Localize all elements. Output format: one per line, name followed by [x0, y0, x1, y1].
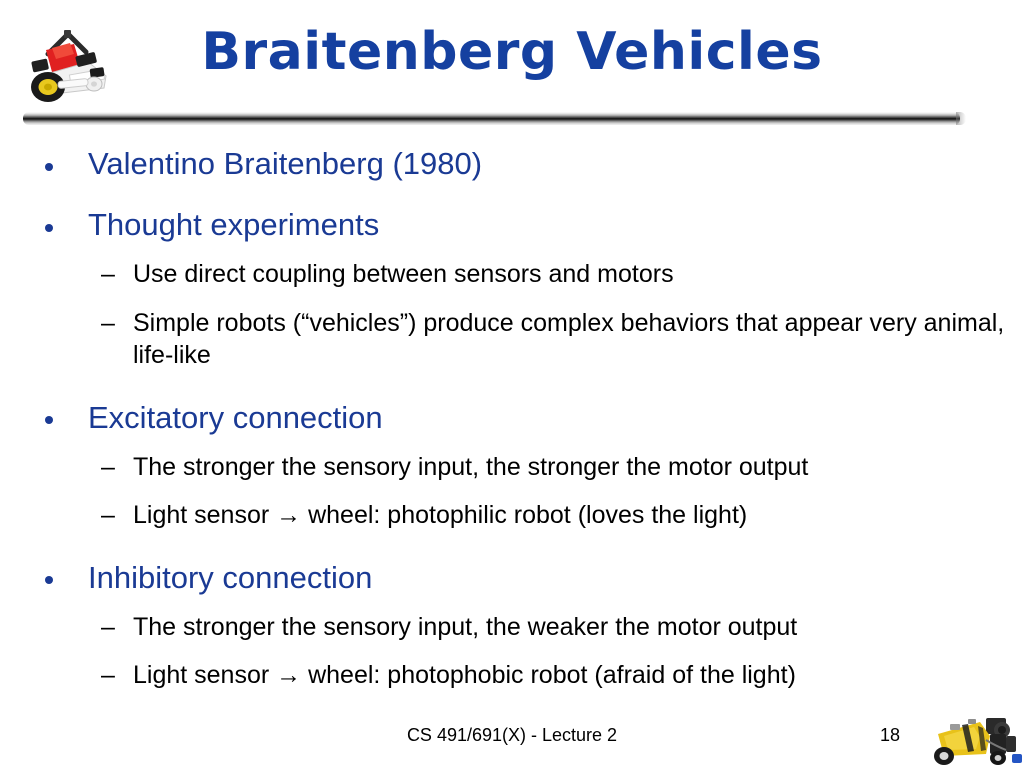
- lego-robot-yellow-icon: [928, 716, 1024, 768]
- bullet-text: Light sensor → wheel: photophobic robot …: [133, 661, 796, 689]
- slide-page-number: 18: [860, 725, 920, 746]
- bullet-level2: – Simple robots (“vehicles”) produce com…: [0, 307, 1010, 372]
- bullet-level2: – Light sensor → wheel: photophilic robo…: [0, 499, 1010, 532]
- spacer: [0, 593, 1024, 611]
- bullet-level2: – The stronger the sensory input, the we…: [0, 611, 1010, 644]
- slide-body-content: Valentino Braitenberg (1980) Thought exp…: [0, 128, 1024, 692]
- spacer: [0, 240, 1024, 258]
- spacer: [0, 483, 1024, 499]
- presentation-slide: Braitenberg Vehicles Valentino Braitenbe…: [0, 0, 1024, 768]
- bullet-text: Use direct coupling between sensors and …: [133, 260, 674, 288]
- bullet-text: Thought experiments: [88, 207, 379, 242]
- spacer: [0, 433, 1024, 451]
- spacer: [0, 179, 1024, 209]
- bullet-dot-icon: [45, 163, 53, 171]
- bullet-dot-icon: [45, 416, 53, 424]
- spacer: [0, 128, 1024, 148]
- bullet-level1: Valentino Braitenberg (1980): [0, 148, 1024, 179]
- title-divider-rule: [23, 112, 960, 125]
- slide-title-area: Braitenberg Vehicles: [0, 0, 1024, 125]
- bullet-level1: Excitatory connection: [0, 402, 1024, 433]
- bullet-text: The stronger the sensory input, the weak…: [133, 613, 797, 641]
- spacer: [0, 532, 1024, 562]
- spacer: [0, 291, 1024, 307]
- bullet-level1: Thought experiments: [0, 209, 1024, 240]
- bullet-text: Inhibitory connection: [88, 560, 372, 595]
- bullet-level2: – The stronger the sensory input, the st…: [0, 451, 1010, 484]
- spacer: [0, 372, 1024, 402]
- bullet-text: Light sensor → wheel: photophilic robot …: [133, 501, 747, 529]
- bullet-text: Excitatory connection: [88, 400, 383, 435]
- bullet-dash-icon: –: [101, 307, 115, 340]
- bullet-level2: – Light sensor → wheel: photophobic robo…: [0, 659, 1010, 692]
- bullet-dash-icon: –: [101, 258, 115, 291]
- bullet-dot-icon: [45, 576, 53, 584]
- page-title: Braitenberg Vehicles: [0, 22, 1024, 82]
- spacer: [0, 643, 1024, 659]
- bullet-text: Valentino Braitenberg (1980): [88, 146, 482, 181]
- bullet-level1: Inhibitory connection: [0, 562, 1024, 593]
- bullet-dot-icon: [45, 224, 53, 232]
- bullet-dash-icon: –: [101, 499, 115, 532]
- bullet-text: Simple robots (“vehicles”) produce compl…: [133, 309, 1004, 370]
- bullet-dash-icon: –: [101, 659, 115, 692]
- bullet-dash-icon: –: [101, 611, 115, 644]
- bullet-text: The stronger the sensory input, the stro…: [133, 453, 808, 481]
- bullet-level2: – Use direct coupling between sensors an…: [0, 258, 1010, 291]
- bullet-dash-icon: –: [101, 451, 115, 484]
